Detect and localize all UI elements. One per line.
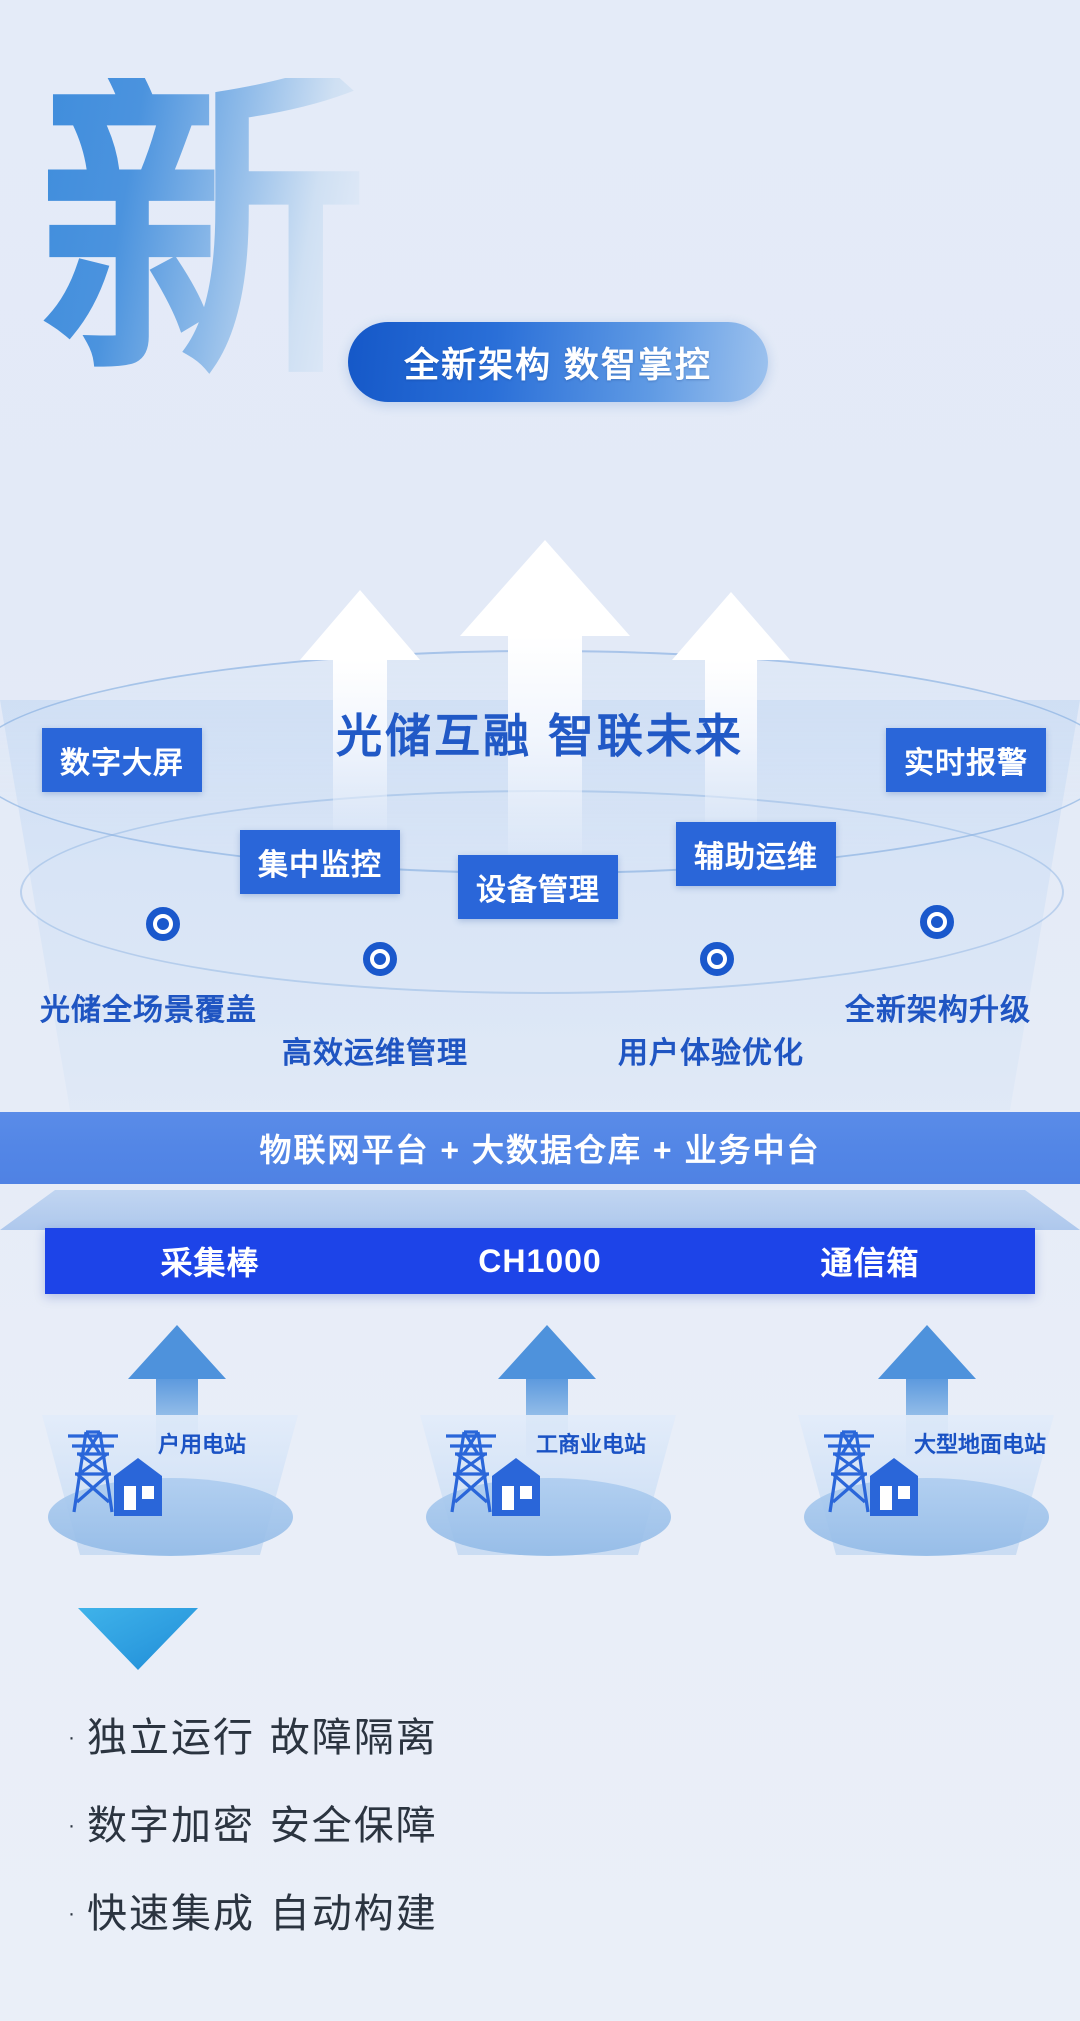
tag-realtime-alarm[interactable]: 实时报警 [886, 728, 1046, 792]
hero-title-banner: 全新架构 数智掌控 [348, 322, 768, 402]
station-label-residential: 户用电站 [158, 1427, 246, 1459]
tag-assisted-om[interactable]: 辅助运维 [676, 822, 836, 886]
platform-stack-bar: 物联网平台 + 大数据仓库 + 业务中台 [0, 1112, 1080, 1184]
feature-dot-architecture-upgrade [920, 905, 954, 939]
feature-dot-user-experience [700, 942, 734, 976]
station-label-utility: 大型地面电站 [914, 1427, 1046, 1459]
feature-dot-full-scenario [146, 907, 180, 941]
power-station-icon-utility [818, 1424, 928, 1534]
benefit-label: 数字加密 安全保障 [87, 1806, 438, 1846]
tag-central-monitoring[interactable]: 集中监控 [240, 830, 400, 894]
white-up-arrow-center [460, 540, 630, 854]
feature-label-efficient-om: 高效运维管理 [282, 1028, 468, 1072]
feature-label-full-scenario: 光储全场景覆盖 [40, 985, 257, 1029]
feature-dot-efficient-om [363, 942, 397, 976]
device-bar: 采集棒 CH1000 通信箱 [45, 1228, 1035, 1294]
platform-stack-text: 物联网平台 + 大数据仓库 + 业务中台 [260, 1125, 821, 1171]
benefit-label: 独立运行 故障隔离 [87, 1718, 438, 1758]
device-comm-box[interactable]: 通信箱 [705, 1238, 1035, 1284]
device-collector-stick[interactable]: 采集棒 [45, 1238, 375, 1284]
benefit-item-digital-encryption: · 数字加密 安全保障 [68, 1806, 768, 1846]
station-label-commercial: 工商业电站 [536, 1427, 646, 1459]
down-triangle-icon [78, 1608, 198, 1670]
feature-label-architecture-upgrade: 全新架构升级 [845, 985, 1031, 1029]
bullet-mark-icon: · [68, 1894, 75, 1934]
power-station-icon-residential [62, 1424, 172, 1534]
device-ch1000[interactable]: CH1000 [375, 1243, 705, 1280]
tag-device-management[interactable]: 设备管理 [458, 855, 618, 919]
bullet-mark-icon: · [68, 1806, 75, 1846]
infographic-poster: 新 全新架构 数智掌控 光储互融 智联未来 数字大屏 集中监控 设备管理 辅助运… [0, 0, 1080, 2021]
benefit-item-independent-operation: · 独立运行 故障隔离 [68, 1718, 768, 1758]
hero-title-text: 全新架构 数智掌控 [404, 337, 712, 388]
tag-digital-screen[interactable]: 数字大屏 [42, 728, 202, 792]
feature-label-user-experience: 用户体验优化 [618, 1028, 804, 1072]
benefit-item-rapid-integration: · 快速集成 自动构建 [68, 1894, 768, 1934]
watermark-character: 新 [38, 78, 368, 378]
benefits-list: · 独立运行 故障隔离 · 数字加密 安全保障 · 快速集成 自动构建 [68, 1718, 768, 1982]
bullet-mark-icon: · [68, 1718, 75, 1758]
device-bar-top-bevel [0, 1190, 1080, 1230]
power-station-icon-commercial [440, 1424, 550, 1534]
benefit-label: 快速集成 自动构建 [87, 1894, 438, 1934]
